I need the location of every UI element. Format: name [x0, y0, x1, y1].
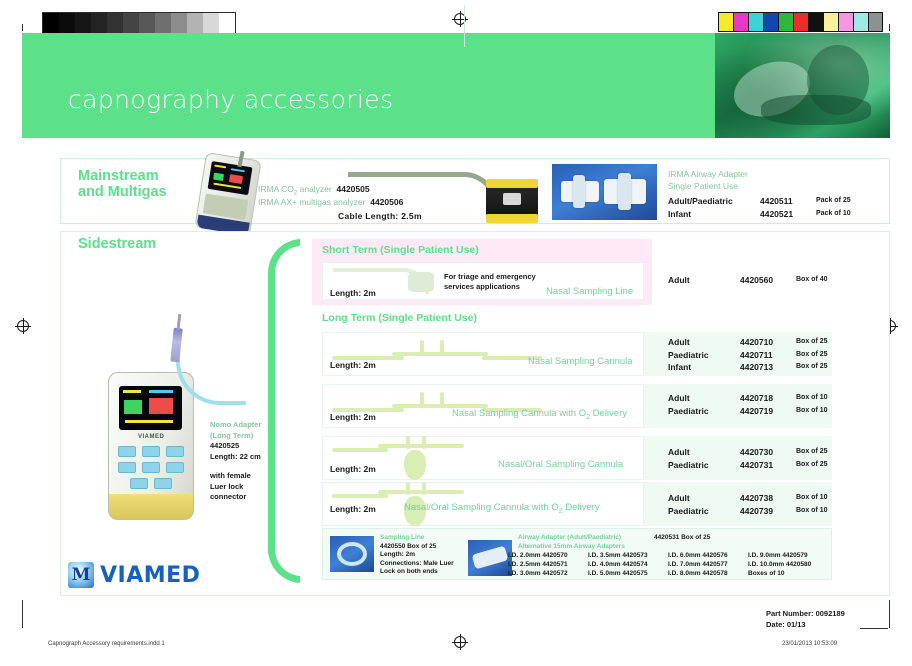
code-row-number: 4420718 [740, 392, 796, 405]
nomo-adapter-info: Nomo Adapter (Long Term) 4420525 Length:… [210, 420, 286, 503]
code-row: Adult/Paediatric4420511Pack of 25 [668, 195, 851, 208]
grey-swatch [43, 13, 59, 33]
code-row-number: 4420731 [740, 459, 796, 472]
code-row: Paediatric4420711Box of 25 [668, 349, 828, 362]
adapter-size-cell: I.D. 5.0mm 4420575 [588, 569, 668, 578]
cable-connector-graphic [486, 184, 538, 218]
code-row-number: 4420738 [740, 492, 796, 505]
long-term-code-table-2: Adult4420718Box of 10Paediatric4420719Bo… [668, 392, 828, 417]
code-row-pack: Box of 25 [796, 361, 828, 374]
greyscale-calibration-bar [42, 12, 236, 34]
long-term-heading: Long Term (Single Patient Use) [322, 312, 477, 324]
code-row-pack: Pack of 25 [816, 195, 851, 208]
category-label-mainstream: Mainstream and Multigas [78, 168, 167, 200]
grey-swatch [59, 13, 75, 33]
code-row-number: 4420511 [760, 195, 816, 208]
code-row-name: Paediatric [668, 459, 740, 472]
long-term-code-table-3: Adult4420730Box of 25Paediatric4420731Bo… [668, 446, 828, 471]
code-row: Adult4420718Box of 10 [668, 392, 828, 405]
registration-mark-top [452, 11, 468, 27]
code-row-name: Adult [668, 392, 740, 405]
color-swatch [808, 12, 823, 32]
long-term-code-table-4: Adult4420738Box of 10Paediatric4420739Bo… [668, 492, 828, 517]
code-row-name: Paediatric [668, 505, 740, 518]
color-swatch [778, 12, 793, 32]
sampling-line-tip [408, 272, 434, 292]
code-row-pack: Box of 40 [796, 274, 828, 287]
page-header-banner: capnography accessories [22, 33, 890, 138]
viamed-logo-mark: M [68, 562, 94, 588]
print-timestamp: 23/01/2013 10:53:09 [782, 641, 837, 647]
color-calibration-bar [718, 12, 883, 32]
trim-mark [889, 600, 890, 628]
code-row-name: Adult [668, 446, 740, 459]
file-note: Capnograph Accessory requirements.indd 1 [48, 641, 165, 647]
code-row: Adult4420730Box of 25 [668, 446, 828, 459]
grey-swatch [187, 13, 203, 33]
grey-swatch [123, 13, 139, 33]
airway-adapter-photo-2 [468, 540, 512, 576]
code-row-number: 4420730 [740, 446, 796, 459]
airway-adapter-code-table: Adult/Paediatric4420511Pack of 25Infant4… [668, 195, 851, 220]
adapter-size-cell: I.D. 4.0mm 4420574 [588, 560, 668, 569]
color-swatch [748, 12, 763, 32]
color-swatch [733, 12, 748, 32]
viamed-logo-text: VIAMED [100, 563, 200, 588]
sampling-tube-graphic [348, 172, 498, 206]
color-swatch [718, 12, 733, 32]
airway-adapter-photo [552, 164, 657, 220]
code-row-pack: Pack of 10 [816, 208, 851, 221]
code-row: Paediatric4420719Box of 10 [668, 405, 828, 418]
grey-swatch [75, 13, 91, 33]
code-row-pack: Box of 10 [796, 405, 828, 418]
code-row-pack: Box of 25 [796, 336, 828, 349]
trim-mark [860, 628, 888, 629]
code-row-name: Paediatric [668, 349, 740, 362]
category-label-sidestream: Sidestream [78, 236, 156, 252]
code-row-pack: Box of 25 [796, 446, 828, 459]
long-term-product-3: Nasal/Oral Sampling Cannula [498, 459, 623, 470]
code-row: Adult4420738Box of 10 [668, 492, 828, 505]
adapter-size-cell: I.D. 9.0mm 4420579 [748, 551, 838, 560]
long-term-code-table-1: Adult4420710Box of 25Paediatric4420711Bo… [668, 336, 828, 374]
grey-swatch [139, 13, 155, 33]
header-photo [715, 33, 890, 138]
code-row-pack: Box of 10 [796, 392, 828, 405]
adapter-size-cell: I.D. 6.0mm 4420576 [668, 551, 748, 560]
sampling-line-info: Sampling Line 4420550 Box of 25 Length: … [380, 534, 454, 577]
code-row-pack: Box of 25 [796, 459, 828, 472]
code-row-number: 4420521 [760, 208, 816, 221]
short-term-note: For triage and emergency services applic… [444, 272, 536, 292]
code-row-number: 4420739 [740, 505, 796, 518]
code-row-number: 4420719 [740, 405, 796, 418]
adapter-size-cell: I.D. 2.0mm 4420570 [508, 551, 588, 560]
page-title: capnography accessories [68, 85, 394, 114]
adapter-size-cell: I.D. 7.0mm 4420577 [668, 560, 748, 569]
device-brand-label: VIAMED [138, 434, 164, 440]
color-swatch [793, 12, 808, 32]
grey-swatch [203, 13, 219, 33]
trim-mark [889, 24, 890, 31]
long-term-length-4: Length: 2m [330, 504, 376, 514]
code-row-name: Infant [668, 361, 740, 374]
irma-monitor-photo [194, 152, 261, 236]
grey-swatch [171, 13, 187, 33]
code-row-number: 4420713 [740, 361, 796, 374]
grey-swatch [219, 13, 235, 33]
adapter-size-cell: I.D. 2.5mm 4420571 [508, 560, 588, 569]
color-swatch [823, 12, 838, 32]
trim-mark [22, 24, 23, 31]
registration-mark-bottom [452, 634, 468, 650]
airway-adapter-main-code: 4420531 Box of 25 [654, 534, 710, 543]
code-row-number: 4420560 [740, 274, 796, 287]
color-swatch [868, 12, 883, 32]
long-term-length-2: Length: 2m [330, 412, 376, 422]
sidestream-monitor-photo: VIAMED [108, 372, 194, 520]
airway-adapter-size-table: I.D. 2.0mm 4420570I.D. 3.5mm 4420573I.D.… [508, 551, 838, 578]
code-row: Infant4420713Box of 25 [668, 361, 828, 374]
code-row-pack: Box of 25 [796, 349, 828, 362]
code-row: Adult4420710Box of 25 [668, 336, 828, 349]
long-term-product-4: Nasal/Oral Sampling Cannula with O2 Deli… [404, 502, 600, 515]
long-term-product-2: Nasal Sampling Cannula with O2 Delivery [452, 408, 627, 421]
code-row-name: Adult [668, 336, 740, 349]
grey-swatch [155, 13, 171, 33]
adapter-size-cell: Boxes of 10 [748, 569, 838, 578]
grey-swatch [107, 13, 123, 33]
code-row: Paediatric4420731Box of 25 [668, 459, 828, 472]
color-swatch [838, 12, 853, 32]
long-term-length-3: Length: 2m [330, 464, 376, 474]
part-number-block: Part Number: 0092189 Date: 01/13 [766, 608, 845, 630]
adapter-size-cell: I.D. 3.5mm 4420573 [588, 551, 668, 560]
adapter-size-cell: I.D. 3.0mm 4420572 [508, 569, 588, 578]
code-row: Infant4420521Pack of 10 [668, 208, 851, 221]
color-swatch [763, 12, 778, 32]
short-term-heading: Short Term (Single Patient Use) [322, 244, 479, 256]
code-row-pack: Box of 10 [796, 505, 828, 518]
trim-mark [22, 600, 23, 628]
code-row-number: 4420710 [740, 336, 796, 349]
short-term-length: Length: 2m [330, 288, 376, 298]
registration-mark-left [15, 318, 31, 334]
long-term-product-1: Nasal Sampling Cannula [528, 356, 633, 367]
catalog-page: capnography accessories Mainstream and M… [0, 0, 912, 666]
code-row: Adult4420560Box of 40 [668, 274, 828, 287]
airway-adapter-title: IRMA Airway Adapter Single Patient Use [668, 169, 748, 192]
long-term-length-1: Length: 2m [330, 360, 376, 370]
cable-length-label: Cable Length: 2.5m [338, 211, 422, 221]
code-row-name: Adult [668, 492, 740, 505]
sampling-line-photo [330, 536, 374, 572]
code-row: Paediatric4420739Box of 10 [668, 505, 828, 518]
code-row-number: 4420711 [740, 349, 796, 362]
code-row-name: Adult [668, 274, 740, 287]
short-term-code-table: Adult4420560Box of 40 [668, 274, 828, 287]
grey-swatch [91, 13, 107, 33]
code-row-name: Paediatric [668, 405, 740, 418]
short-term-product-name: Nasal Sampling Line [546, 286, 633, 297]
code-row-name: Infant [668, 208, 760, 221]
adapter-size-cell: I.D. 10.0mm 4420580 [748, 560, 838, 569]
airway-adapter-info: Airway Adapter (Adult/Paediatric) Altern… [518, 534, 625, 551]
adapter-size-cell: I.D. 8.0mm 4420578 [668, 569, 748, 578]
code-row-name: Adult/Paediatric [668, 195, 760, 208]
color-swatch [853, 12, 868, 32]
accessory-divider [464, 5, 465, 47]
code-row-pack: Box of 10 [796, 492, 828, 505]
viamed-logo: M VIAMED [68, 562, 200, 588]
